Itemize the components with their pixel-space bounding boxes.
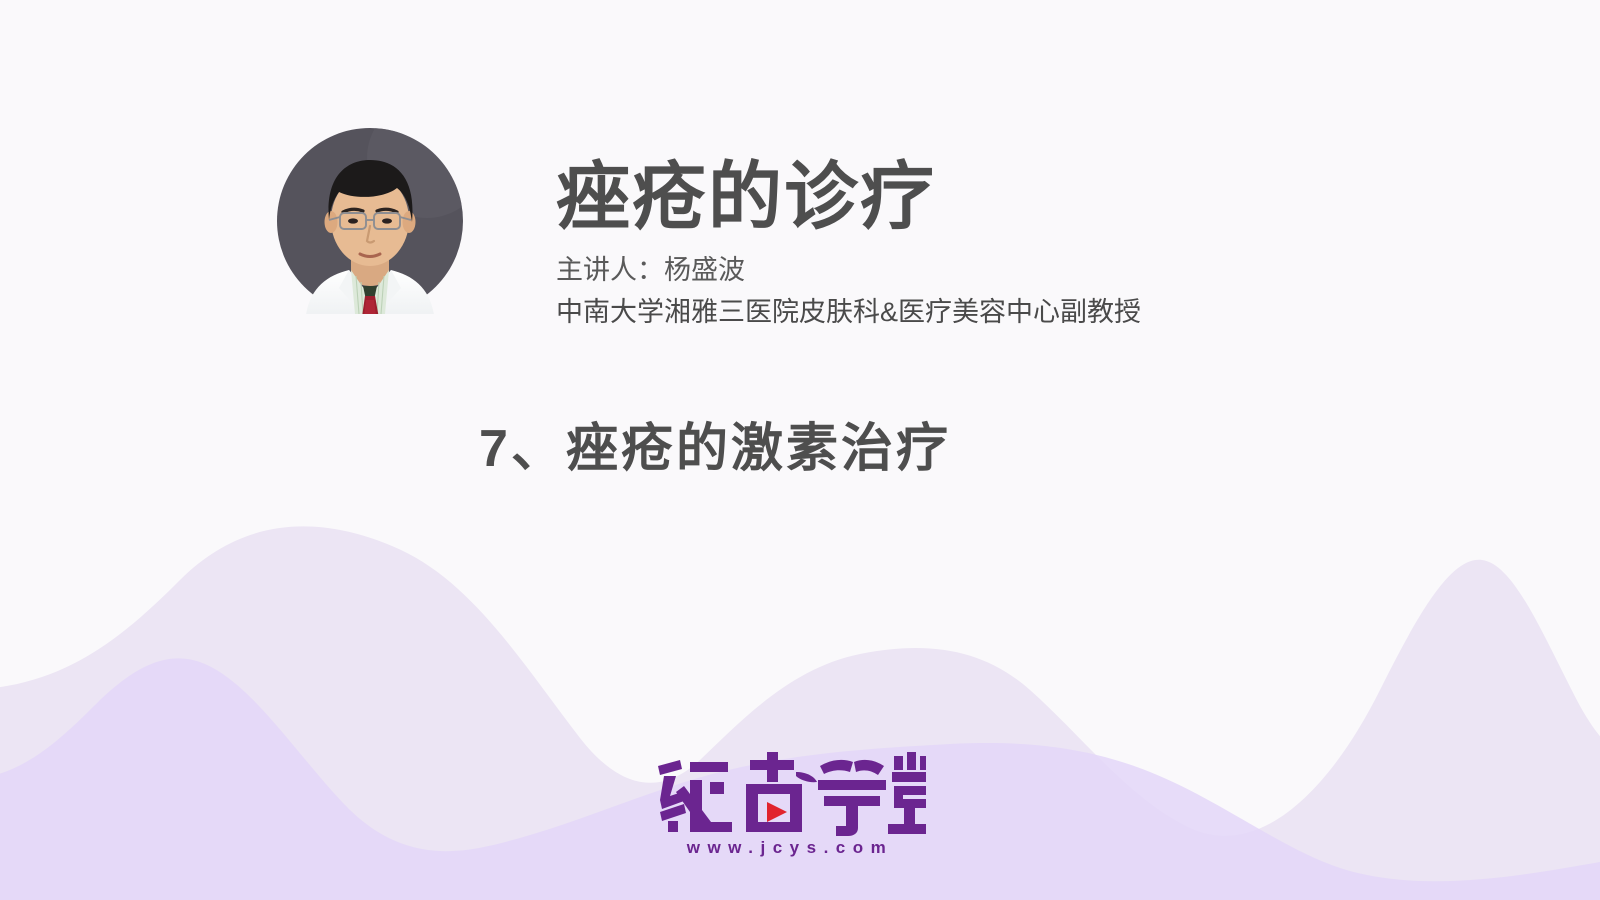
- jcys-brand-logo-icon: [654, 752, 926, 836]
- speaker-portrait-icon: [277, 128, 463, 314]
- avatar: [277, 128, 463, 314]
- speaker-name: 主讲人：杨盛波: [556, 234, 1456, 292]
- title-block: 痤疮的诊疗 主讲人：杨盛波 中南大学湘雅三医院皮肤科&医疗美容中心副教授: [556, 160, 1456, 334]
- brand-logo: www.jcys.com: [640, 752, 940, 872]
- play-triangle-icon: [767, 802, 787, 822]
- speaker-affiliation: 中南大学湘雅三医院皮肤科&医疗美容中心副教授: [556, 292, 1456, 334]
- slide-header: 痤疮的诊疗 主讲人：杨盛波 中南大学湘雅三医院皮肤科&医疗美容中心副教授: [0, 0, 1600, 380]
- section-heading: 7、痤疮的激素治疗: [0, 418, 1430, 480]
- brand-url: www.jcys.com: [640, 838, 940, 858]
- page-title: 痤疮的诊疗: [556, 160, 1456, 234]
- slide-root: 痤疮的诊疗 主讲人：杨盛波 中南大学湘雅三医院皮肤科&医疗美容中心副教授 7、痤…: [0, 0, 1600, 900]
